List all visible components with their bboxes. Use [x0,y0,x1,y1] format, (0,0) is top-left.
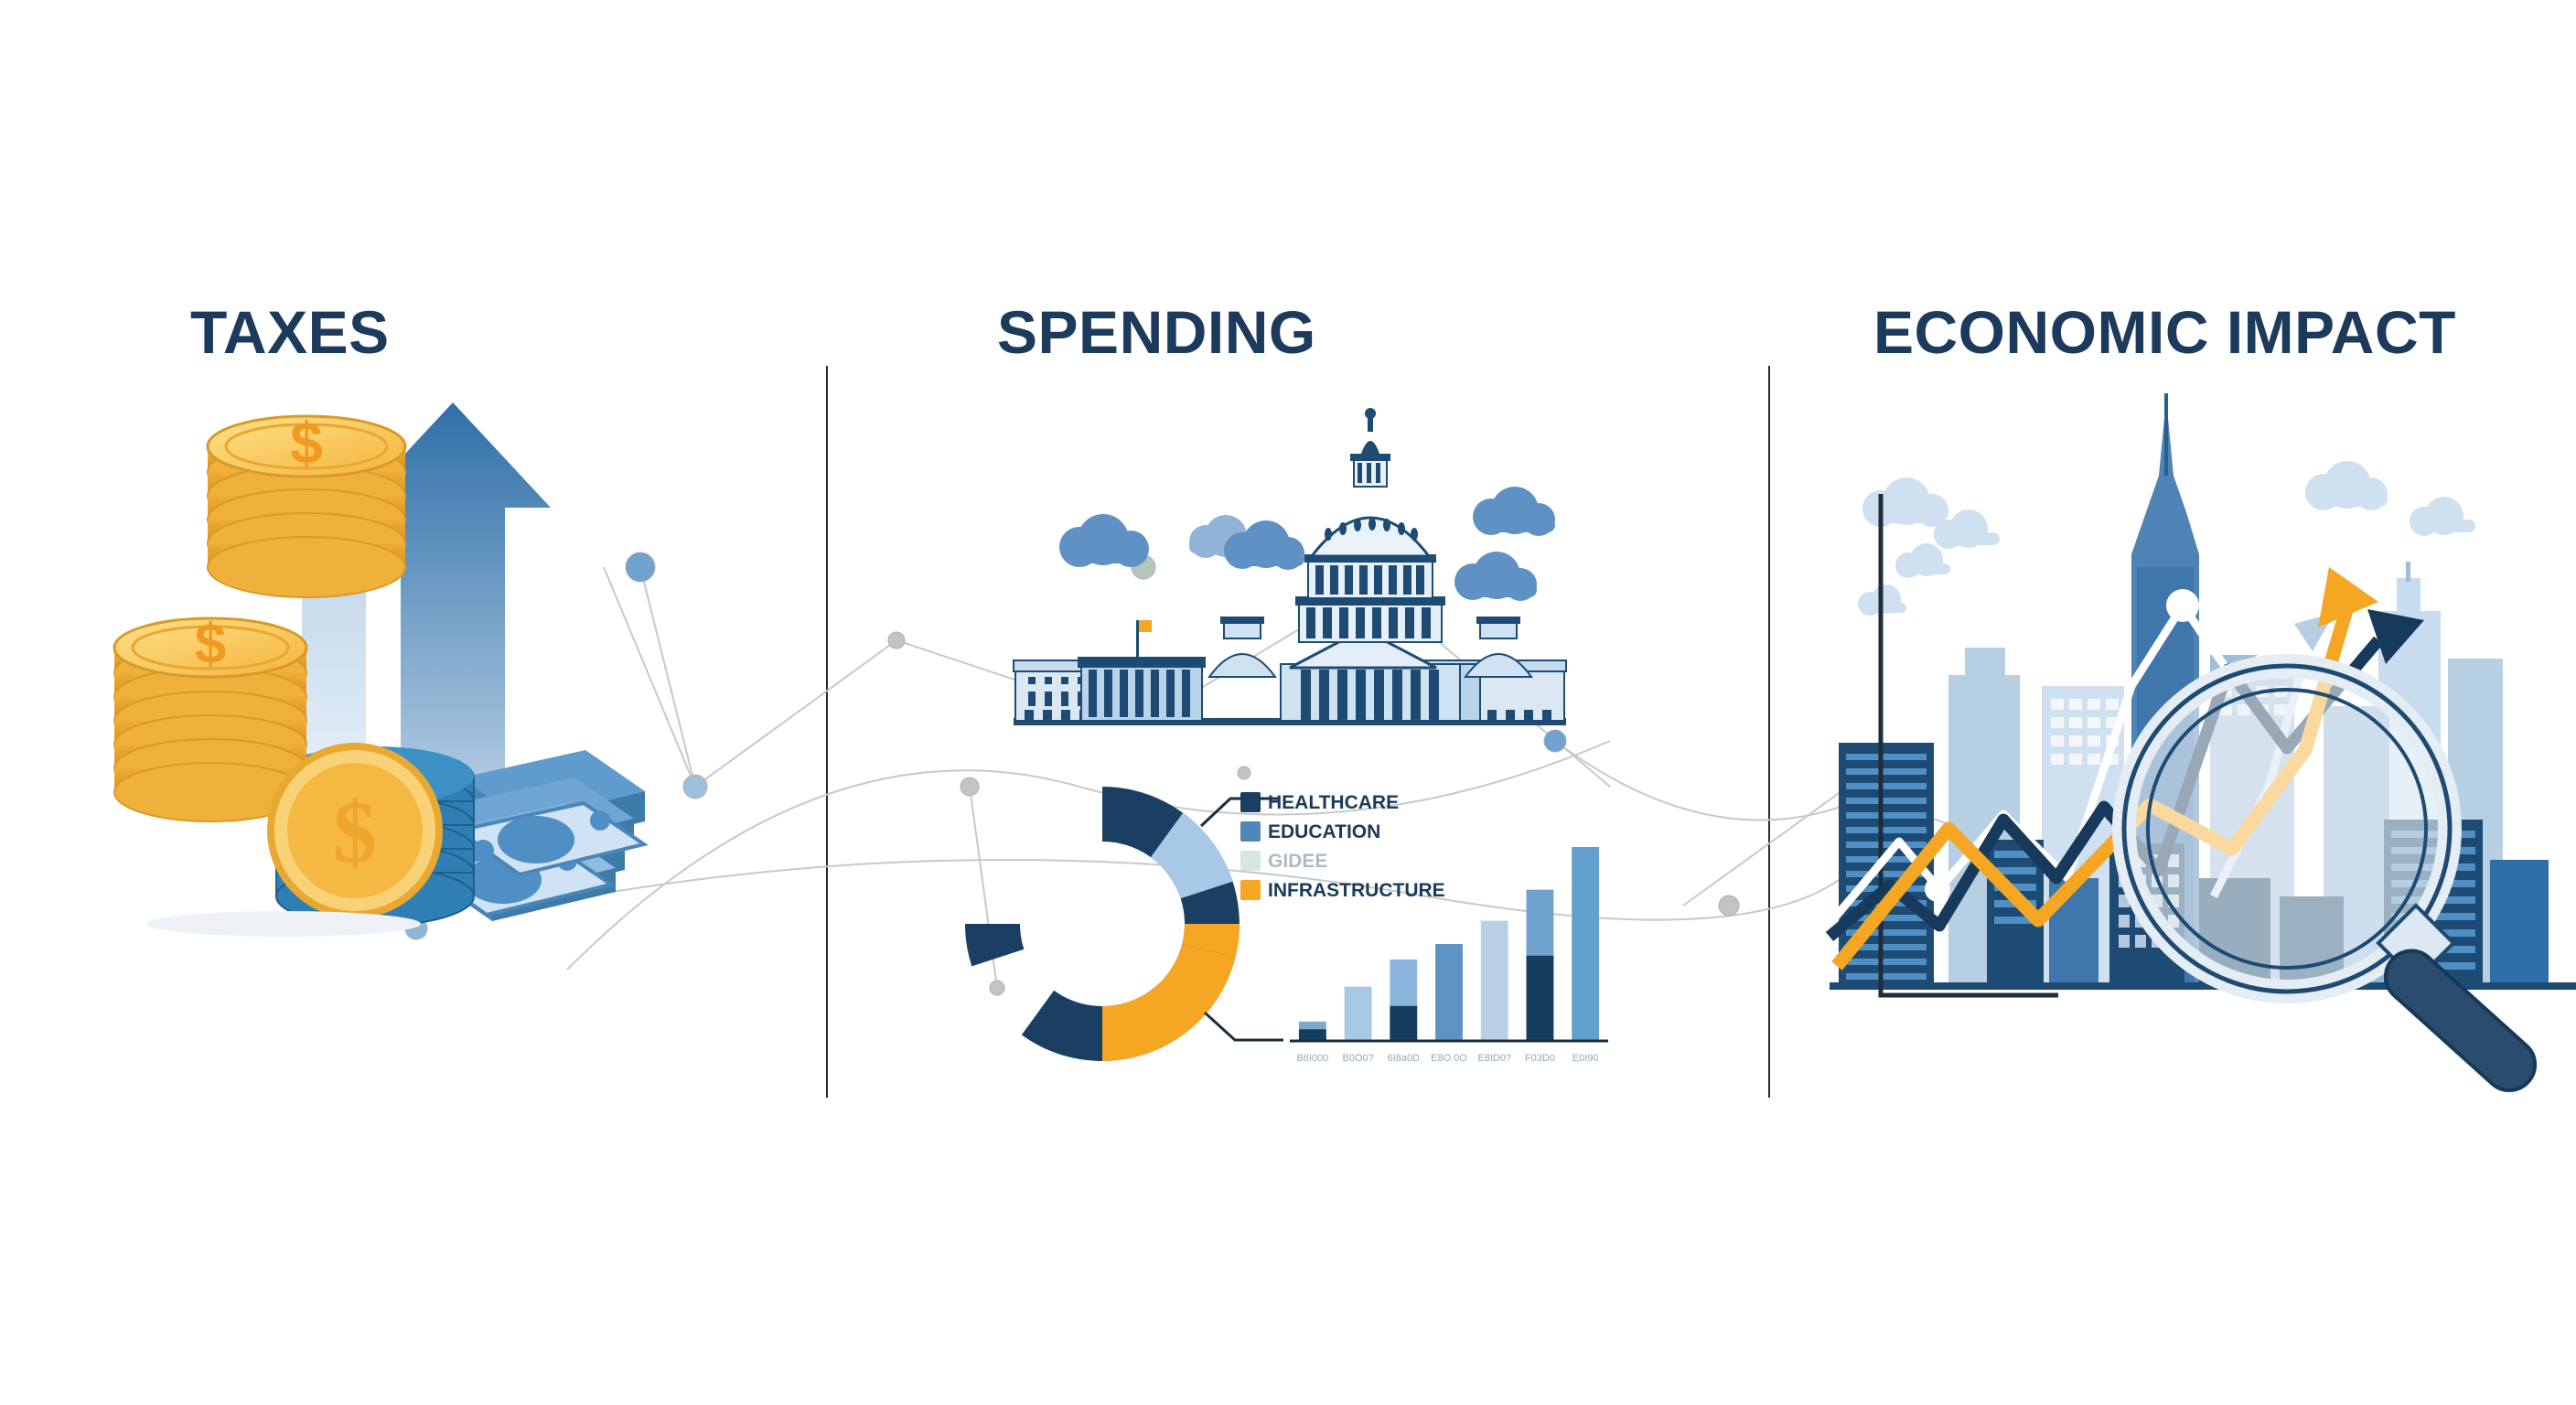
side-dome-left [1209,617,1275,677]
cloud-left [1059,514,1149,567]
bar-x-label-0: B6I000 [1296,1053,1328,1064]
bar-x-labels: B6I000B0O0?6I8a0DE8O.0OE8ID0?F03D0E0I90 [1296,1053,1598,1064]
front-coin-dollar-sign: $ [333,783,377,881]
bar-base-0 [1299,1029,1326,1041]
trend-node-top [2166,589,2199,622]
legend-swatch-infrastructure [1240,880,1261,900]
bar-1 [1345,987,1372,1041]
gold-coin-dollar-sign-short: $ [195,613,226,676]
legend-item-1: EDUCATION [1240,821,1380,842]
cloud-right-bot [1454,552,1537,601]
legend-swatch-healthcare [1240,792,1261,812]
legend-swatch-education [1240,821,1261,842]
infographic-canvas: TAXES SPENDING ECONOMIC IMPACT [0,0,2576,1405]
legend-swatch-gidee [1240,851,1261,871]
legend-label-healthcare: HEALTHCARE [1268,792,1399,813]
capitol-illustration [997,402,1583,778]
capitol-dome [1295,408,1445,642]
bar-4 [1481,921,1508,1041]
trend-node-low [1925,876,1950,902]
cloud-right-top [1473,487,1555,536]
panel-title-taxes: TAXES [190,302,390,362]
legend-label-education: EDUCATION [1268,821,1380,842]
bar-x-label-1: B0O0? [1342,1053,1373,1064]
spending-bar-chart: B6I000B0O0?6I8a0DE8O.0OE8ID0?F03D0E0I90 [1290,842,1619,1070]
bar-3 [1435,944,1463,1041]
bar-x-label-6: E0I90 [1572,1053,1599,1064]
taxes-illustration: $ $ [110,393,805,1034]
coin-shadow [146,911,421,937]
bar-base-2 [1390,1006,1417,1041]
gold-coin-dollar-sign-tall: $ [290,410,323,476]
leader-line-infrastructure [1205,1013,1283,1040]
gold-coin-stack-tall: $ [208,410,405,597]
panel-title-impact: ECONOMIC IMPACT [1873,302,2456,362]
donut-slice-infrastructure [1102,944,1236,1061]
legend-item-0: HEALTHCARE [1240,792,1399,813]
bar-x-label-5: F03D0 [1525,1053,1555,1064]
gold-coin-front: $ [271,746,439,915]
bar-6 [1572,847,1599,1041]
spending-donut-chart [956,773,1285,1084]
bar-x-label-3: E8O.0O [1431,1053,1467,1064]
bar-x-label-4: E8ID0? [1477,1053,1511,1064]
bars [1299,847,1599,1041]
panel-title-spending: SPENDING [997,302,1316,362]
impact-illustration [1830,384,2576,1043]
bar-x-label-2: 6I8a0D [1388,1053,1421,1064]
bar-base-5 [1527,956,1554,1041]
side-dome-right [1465,617,1531,677]
